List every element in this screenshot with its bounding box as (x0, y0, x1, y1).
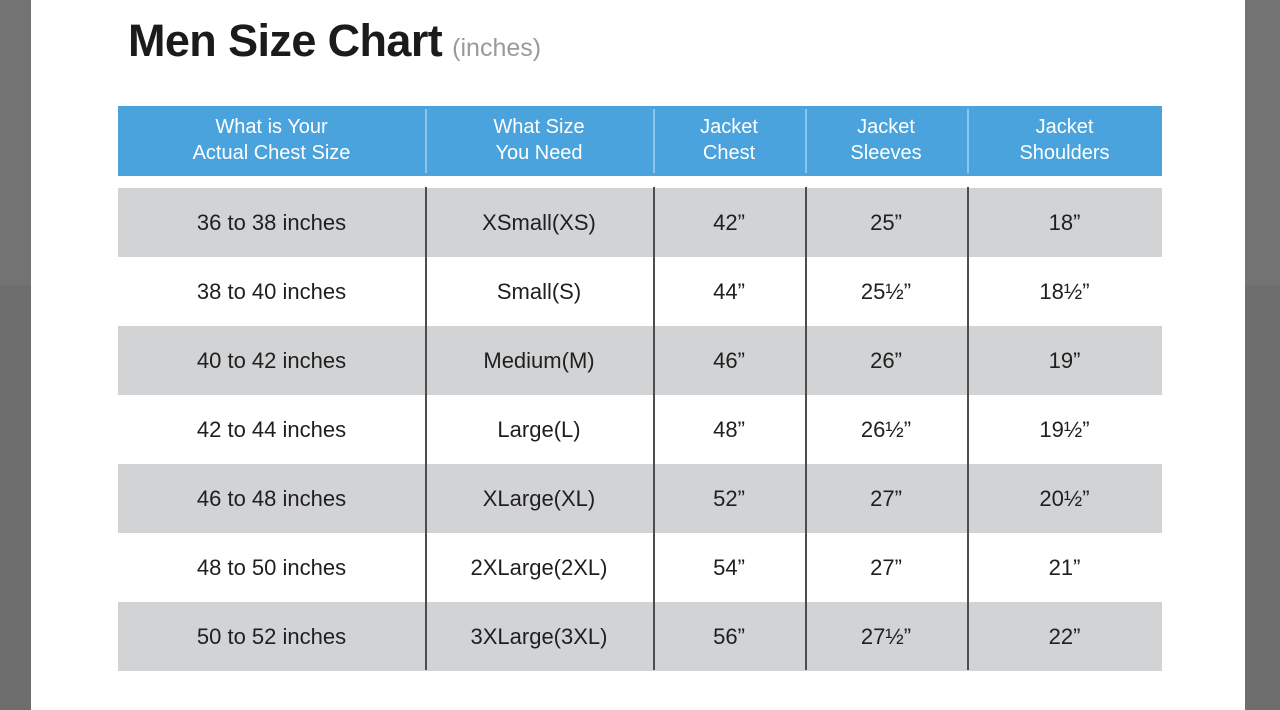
cell-jacket-sleeves: 25½” (805, 257, 967, 326)
table-row: 48 to 50 inches 2XLarge(2XL) 54” 27” 21” (118, 533, 1162, 602)
column-header-jacket-sleeves: Jacket Sleeves (805, 106, 967, 176)
cell-jacket-shoulders: 19” (967, 326, 1162, 395)
column-header-line1: Jacket (805, 115, 967, 141)
column-header-line2: Sleeves (805, 141, 967, 167)
column-header-line1: Jacket (653, 115, 805, 141)
page-title-main: Men Size Chart (128, 18, 442, 63)
cell-jacket-shoulders: 19½” (967, 395, 1162, 464)
cell-jacket-chest: 46” (653, 326, 805, 395)
cell-size-needed: 2XLarge(2XL) (425, 533, 653, 602)
cell-jacket-chest: 44” (653, 257, 805, 326)
size-chart-page: Men Size Chart (inches) What is Your Act… (31, 0, 1245, 710)
cell-chest-range: 50 to 52 inches (118, 602, 425, 671)
column-header-jacket-shoulders: Jacket Shoulders (967, 106, 1162, 176)
header-body-gap (118, 176, 1162, 188)
table-row: 46 to 48 inches XLarge(XL) 52” 27” 20½” (118, 464, 1162, 533)
cell-jacket-chest: 56” (653, 602, 805, 671)
cell-jacket-sleeves: 27½” (805, 602, 967, 671)
column-header-line1: What is Your (118, 115, 425, 141)
cell-jacket-chest: 48” (653, 395, 805, 464)
table-row: 38 to 40 inches Small(S) 44” 25½” 18½” (118, 257, 1162, 326)
column-header-line2: Shoulders (967, 141, 1162, 167)
cell-jacket-shoulders: 22” (967, 602, 1162, 671)
cell-jacket-sleeves: 27” (805, 533, 967, 602)
letterbox-bar-right (1245, 0, 1280, 710)
table-row: 36 to 38 inches XSmall(XS) 42” 25” 18” (118, 188, 1162, 257)
column-header-line2: Actual Chest Size (118, 141, 425, 167)
column-header-line1: What Size (425, 115, 653, 141)
table-header-row: What is Your Actual Chest Size What Size… (118, 106, 1162, 176)
cell-chest-range: 46 to 48 inches (118, 464, 425, 533)
column-header-line2: You Need (425, 141, 653, 167)
column-header-size-you-need: What Size You Need (425, 106, 653, 176)
column-header-line1: Jacket (967, 115, 1162, 141)
cell-chest-range: 38 to 40 inches (118, 257, 425, 326)
cell-chest-range: 48 to 50 inches (118, 533, 425, 602)
column-header-line2: Chest (653, 141, 805, 167)
cell-size-needed: Large(L) (425, 395, 653, 464)
cell-chest-range: 42 to 44 inches (118, 395, 425, 464)
cell-size-needed: Medium(M) (425, 326, 653, 395)
men-size-chart-table: What is Your Actual Chest Size What Size… (118, 106, 1162, 671)
table-row: 42 to 44 inches Large(L) 48” 26½” 19½” (118, 395, 1162, 464)
table-row: 50 to 52 inches 3XLarge(3XL) 56” 27½” 22… (118, 602, 1162, 671)
cell-jacket-chest: 42” (653, 188, 805, 257)
letterbox-bar-left (0, 0, 31, 710)
cell-jacket-sleeves: 26½” (805, 395, 967, 464)
cell-size-needed: XSmall(XS) (425, 188, 653, 257)
column-header-actual-chest-size: What is Your Actual Chest Size (118, 106, 425, 176)
cell-size-needed: Small(S) (425, 257, 653, 326)
cell-jacket-chest: 54” (653, 533, 805, 602)
cell-jacket-sleeves: 25” (805, 188, 967, 257)
cell-size-needed: 3XLarge(3XL) (425, 602, 653, 671)
cell-jacket-shoulders: 21” (967, 533, 1162, 602)
cell-chest-range: 36 to 38 inches (118, 188, 425, 257)
cell-jacket-sleeves: 26” (805, 326, 967, 395)
table-row: 40 to 42 inches Medium(M) 46” 26” 19” (118, 326, 1162, 395)
page-title-unit: (inches) (452, 36, 541, 61)
column-header-jacket-chest: Jacket Chest (653, 106, 805, 176)
cell-jacket-shoulders: 18½” (967, 257, 1162, 326)
cell-jacket-shoulders: 18” (967, 188, 1162, 257)
cell-chest-range: 40 to 42 inches (118, 326, 425, 395)
cell-size-needed: XLarge(XL) (425, 464, 653, 533)
cell-jacket-chest: 52” (653, 464, 805, 533)
cell-jacket-shoulders: 20½” (967, 464, 1162, 533)
cell-jacket-sleeves: 27” (805, 464, 967, 533)
page-title: Men Size Chart (inches) (128, 18, 541, 63)
